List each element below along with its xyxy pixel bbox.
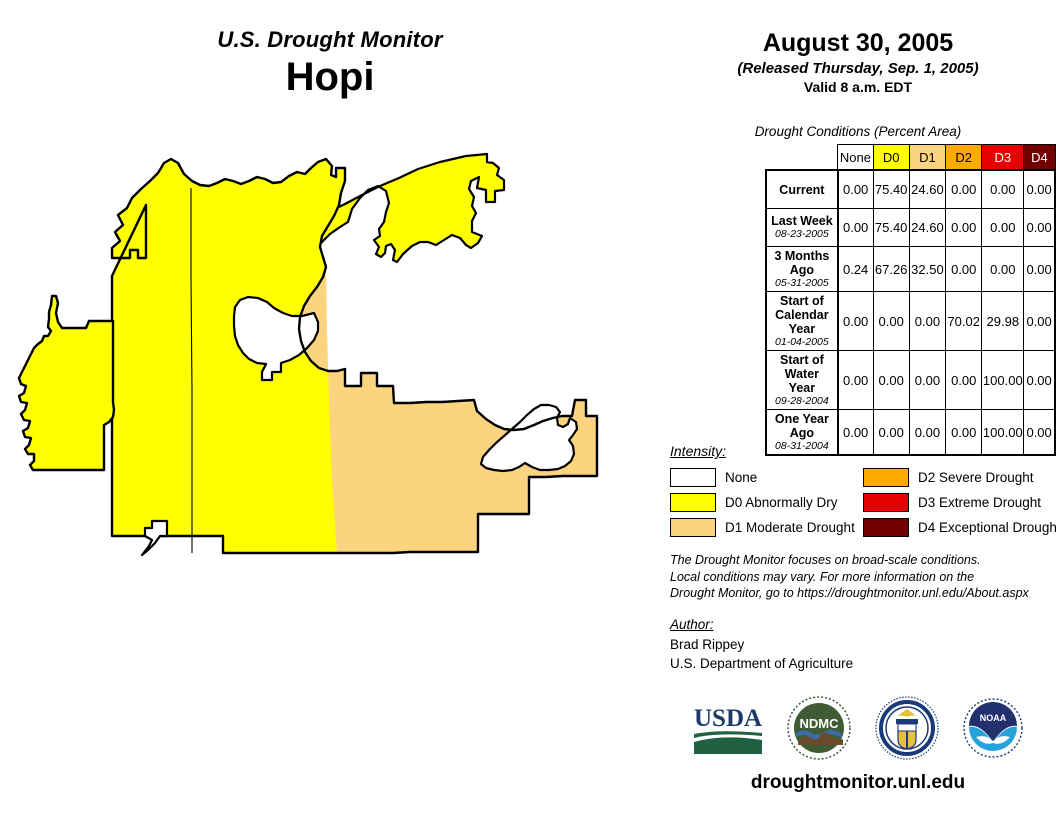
legend-swatch <box>863 518 909 537</box>
legend-label: None <box>725 470 757 485</box>
table-header-row: NoneD0D1D2D3D4 <box>766 145 1055 171</box>
row-date: 08-23-2005 <box>770 228 834 240</box>
table-column-header-none: None <box>838 145 873 171</box>
table-caption: Drought Conditions (Percent Area) <box>660 124 1056 139</box>
row-date: 09-28-2004 <box>770 395 834 407</box>
table-cell-d3: 0.00 <box>982 170 1024 209</box>
table-row-header: Start ofWater Year09-28-2004 <box>766 351 838 410</box>
legend-swatch <box>670 468 716 487</box>
table-column-header-d0: D0 <box>873 145 909 171</box>
legend-column-left: NoneD0 Abnormally DryD1 Moderate Drought <box>670 465 853 540</box>
table-column-header-d3: D3 <box>982 145 1024 171</box>
table-cell-d0: 75.40 <box>873 170 909 209</box>
author-block: Author: Brad Rippey U.S. Department of A… <box>670 615 1050 673</box>
table-cell-d3: 100.00 <box>982 351 1024 410</box>
row-label: Water Year <box>770 367 834 395</box>
logo-row: USDA NDMC <box>660 688 1056 772</box>
table-cell-none: 0.00 <box>838 170 873 209</box>
table-cell-d4: 0.00 <box>1024 247 1055 292</box>
author-name: Brad Rippey <box>670 635 1050 654</box>
table-cell-d2: 0.00 <box>946 351 982 410</box>
table-cell-d1: 32.50 <box>909 247 945 292</box>
drought-map[interactable] <box>0 150 660 750</box>
table-corner-cell <box>766 145 838 171</box>
legend-label: D2 Severe Drought <box>918 470 1034 485</box>
legend-swatch <box>863 468 909 487</box>
usda-logo[interactable]: USDA <box>692 700 764 761</box>
table-row-header: Current <box>766 170 838 209</box>
table-cell-d1: 24.60 <box>909 209 945 247</box>
table-cell-d0: 0.00 <box>873 292 909 351</box>
map-panel: U.S. Drought Monitor Hopi <box>0 0 660 816</box>
ndmc-logo-text: NDMC <box>800 716 840 731</box>
disclaimer-line-1: The Drought Monitor focuses on broad-sca… <box>670 552 1050 569</box>
drought-conditions-table: NoneD0D1D2D3D4 Current0.0075.4024.600.00… <box>765 144 1056 456</box>
table-row: Start ofCalendar Year01-04-20050.000.000… <box>766 292 1055 351</box>
legend-label: D1 Moderate Drought <box>725 520 855 535</box>
table-cell-d4: 0.00 <box>1024 292 1055 351</box>
legend-swatch <box>863 493 909 512</box>
table-cell-d1: 0.00 <box>909 351 945 410</box>
table-cell-none: 0.00 <box>838 292 873 351</box>
row-date: 05-31-2005 <box>770 277 834 289</box>
noaa-logo-text: NOAA <box>980 713 1007 723</box>
table-cell-d0: 0.00 <box>873 351 909 410</box>
row-label: Current <box>770 183 834 197</box>
table-column-header-d2: D2 <box>946 145 982 171</box>
table-cell-d2: 0.00 <box>946 170 982 209</box>
legend-item-right-1[interactable]: D3 Extreme Drought <box>863 490 1046 515</box>
author-organization: U.S. Department of Agriculture <box>670 654 1050 673</box>
table-cell-d3: 0.00 <box>982 209 1024 247</box>
legend-swatch <box>670 518 716 537</box>
table-row-header: Start ofCalendar Year01-04-2005 <box>766 292 838 351</box>
legend-label: D0 Abnormally Dry <box>725 495 838 510</box>
row-label: Start of <box>770 294 834 308</box>
table-body: Current0.0075.4024.600.000.000.00Last We… <box>766 170 1055 455</box>
table-row-header: Last Week08-23-2005 <box>766 209 838 247</box>
legend-label: D3 Extreme Drought <box>918 495 1041 510</box>
table-cell-d3: 0.00 <box>982 247 1024 292</box>
noaa-logo[interactable]: NOAA <box>962 697 1024 764</box>
legend-item-left-2[interactable]: D1 Moderate Drought <box>670 515 853 540</box>
info-panel: August 30, 2005 (Released Thursday, Sep.… <box>660 0 1056 816</box>
map-title-block: U.S. Drought Monitor Hopi <box>0 28 660 100</box>
row-label: 3 Months Ago <box>770 249 834 277</box>
date-block: August 30, 2005 (Released Thursday, Sep.… <box>660 30 1056 95</box>
legend-item-right-2[interactable]: D4 Exceptional Drought <box>863 515 1046 540</box>
disclaimer-line-2: Local conditions may vary. For more info… <box>670 569 1050 586</box>
issue-date: August 30, 2005 <box>660 30 1056 58</box>
row-label: One Year Ago <box>770 412 834 440</box>
table-cell-d1: 0.00 <box>909 292 945 351</box>
legend-item-left-0[interactable]: None <box>670 465 853 490</box>
disclaimer-text: The Drought Monitor focuses on broad-sca… <box>670 552 1050 602</box>
table-cell-d4: 0.00 <box>1024 170 1055 209</box>
legend-label: D4 Exceptional Drought <box>918 520 1056 535</box>
table-row: Start ofWater Year09-28-20040.000.000.00… <box>766 351 1055 410</box>
table-row-header: 3 Months Ago05-31-2005 <box>766 247 838 292</box>
release-date: (Released Thursday, Sep. 1, 2005) <box>660 61 1056 78</box>
table-row: Current0.0075.4024.600.000.000.00 <box>766 170 1055 209</box>
table-cell-d2: 70.02 <box>946 292 982 351</box>
page-title: Hopi <box>0 54 660 100</box>
legend-item-right-0[interactable]: D2 Severe Drought <box>863 465 1046 490</box>
table-cell-d0: 67.26 <box>873 247 909 292</box>
usdc-seal[interactable] <box>874 695 940 766</box>
row-label: Last Week <box>770 214 834 228</box>
table-cell-none: 0.00 <box>838 209 873 247</box>
table-cell-d2: 0.00 <box>946 247 982 292</box>
legend-item-left-1[interactable]: D0 Abnormally Dry <box>670 490 853 515</box>
table-row: 3 Months Ago05-31-20050.2467.2632.500.00… <box>766 247 1055 292</box>
table-cell-d0: 75.40 <box>873 209 909 247</box>
table-cell-d4: 0.00 <box>1024 209 1055 247</box>
site-url[interactable]: droughtmonitor.unl.edu <box>660 772 1056 794</box>
table-cell-none: 0.24 <box>838 247 873 292</box>
disclaimer-line-3: Drought Monitor, go to https://droughtmo… <box>670 585 1050 602</box>
table-column-header-d1: D1 <box>909 145 945 171</box>
row-label: Calendar Year <box>770 308 834 336</box>
valid-time: Valid 8 a.m. EDT <box>660 80 1056 95</box>
author-heading: Author: <box>670 615 1050 634</box>
row-label: Start of <box>770 353 834 367</box>
map-svg <box>0 150 660 750</box>
legend-column-right: D2 Severe DroughtD3 Extreme DroughtD4 Ex… <box>863 465 1046 540</box>
table-cell-none: 0.00 <box>838 351 873 410</box>
ndmc-logo[interactable]: NDMC <box>786 695 852 766</box>
drought-monitor-kicker: U.S. Drought Monitor <box>0 28 660 51</box>
usda-logo-text: USDA <box>694 705 762 732</box>
table-row: Last Week08-23-20050.0075.4024.600.000.0… <box>766 209 1055 247</box>
table-cell-d2: 0.00 <box>946 209 982 247</box>
table-column-header-d4: D4 <box>1024 145 1055 171</box>
table-cell-d3: 29.98 <box>982 292 1024 351</box>
intensity-heading: Intensity: <box>670 443 1056 459</box>
row-date: 01-04-2005 <box>770 336 834 348</box>
intensity-legend: Intensity: NoneD0 Abnormally DryD1 Moder… <box>670 443 1056 540</box>
table-cell-d4: 0.00 <box>1024 351 1055 410</box>
legend-swatch <box>670 493 716 512</box>
table-cell-d1: 24.60 <box>909 170 945 209</box>
